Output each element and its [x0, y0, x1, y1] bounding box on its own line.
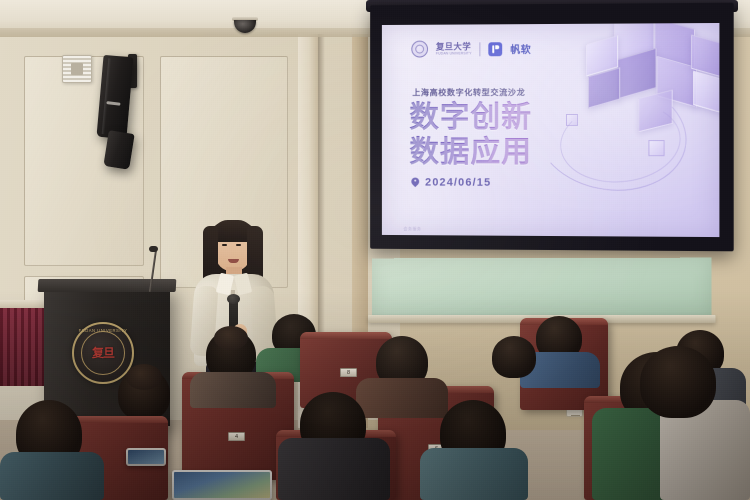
lectern-top — [38, 279, 177, 292]
laptop-screen — [174, 472, 270, 498]
attendee-head-front — [640, 346, 716, 418]
attendee-shoulders — [190, 372, 276, 408]
seal-center-text: 复旦 — [90, 342, 116, 364]
attendee-laptop[interactable] — [172, 470, 272, 500]
university-name-en: FUDAN UNIVERSITY — [436, 52, 472, 56]
vent-core — [71, 63, 83, 75]
presentation-slide: 复旦大学 FUDAN UNIVERSITY 帆软 上海高校数字化转型交流沙龙 数… — [382, 23, 720, 237]
tablet-screen — [128, 450, 164, 464]
slide-kicker: 上海高校数字化转型交流沙龙 — [412, 86, 525, 98]
chair-top-rail — [300, 332, 392, 339]
handheld-microphone-head — [227, 294, 240, 304]
slide-title: 数字创新 数据应用 — [409, 100, 532, 171]
slide-title-line-2: 数据应用 — [409, 135, 532, 170]
speaker-indicator — [106, 101, 120, 106]
attendee-shoulders — [0, 452, 104, 500]
slide-date-row: 2024/06/15 — [411, 177, 491, 189]
slide-logo-row: 复旦大学 FUDAN UNIVERSITY 帆软 — [411, 40, 531, 57]
attendee-shoulders — [356, 378, 448, 418]
attendee-head — [492, 336, 536, 378]
lecture-hall-photo: 复旦大学 FUDAN UNIVERSITY 帆软 上海高校数字化转型交流沙龙 数… — [0, 0, 750, 500]
presenter-eye-right — [236, 244, 241, 246]
wall-air-vent-icon — [62, 55, 92, 83]
partner-name-cn: 帆软 — [510, 41, 531, 56]
slide-date-text: 2024/06/15 — [425, 177, 491, 189]
speaker-ridge — [102, 59, 111, 134]
attendee-tablet[interactable] — [126, 448, 166, 466]
projection-screen: 复旦大学 FUDAN UNIVERSITY 帆软 上海高校数字化转型交流沙龙 数… — [370, 3, 734, 252]
attendee-hair-bun — [126, 364, 162, 390]
presenter-eye-left — [222, 244, 227, 246]
slide-title-line-1: 数字创新 — [409, 100, 532, 135]
fanruan-logo-icon — [488, 42, 502, 56]
cube-artwork — [526, 23, 719, 211]
loudspeaker-lower-module — [103, 130, 134, 170]
university-name-cn: 复旦大学 — [436, 42, 472, 51]
logo-divider — [480, 42, 481, 56]
seat-number-plate: 4 — [228, 432, 245, 441]
gooseneck-mic-head — [149, 246, 158, 252]
slide-footnote: 会务服务 — [403, 226, 421, 232]
fudan-seal-icon — [411, 41, 428, 58]
location-pin-icon — [411, 177, 419, 188]
seal-ring-text: FUDAN UNIVERSITY — [79, 328, 128, 333]
seat-number-plate: 8 — [340, 368, 357, 377]
attendee-hair-bun — [214, 326, 248, 350]
attendee-shoulders — [420, 448, 528, 500]
green-chalkboard — [372, 258, 712, 319]
attendee-shoulders — [278, 438, 390, 500]
